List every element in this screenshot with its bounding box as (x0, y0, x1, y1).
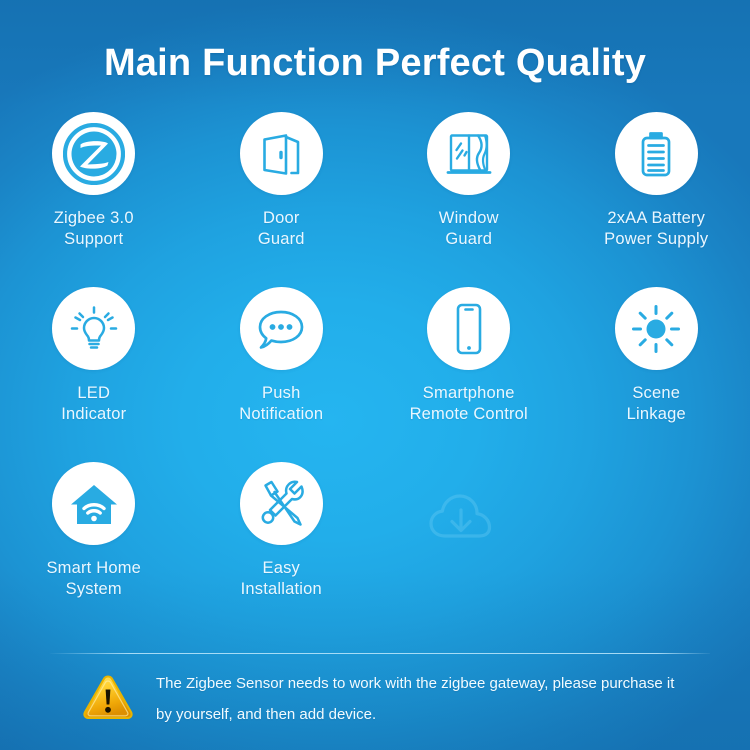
page-title: Main Function Perfect Quality (0, 0, 750, 85)
footer-notice: The Zigbee Sensor needs to work with the… (0, 668, 750, 730)
feature-label: Push Notification (239, 383, 323, 425)
feature-label: Smartphone Remote Control (410, 383, 528, 425)
feature-item-smartphone-remote[interactable]: Smartphone Remote Control (375, 287, 563, 462)
smartphone-icon (450, 301, 488, 357)
feature-label: Easy Installation (241, 558, 322, 600)
product-feature-page: Main Function Perfect Quality (0, 0, 750, 750)
feature-icon-disc (240, 112, 323, 195)
door-icon (255, 128, 307, 180)
feature-label: 2xAA Battery Power Supply (604, 208, 708, 250)
feature-item-push-notification[interactable]: Push Notification (188, 287, 376, 462)
window-icon (442, 128, 496, 180)
feature-item-smart-home-system[interactable]: Smart Home System (0, 462, 188, 637)
feature-label: LED Indicator (61, 383, 126, 425)
zigbee-logo-icon (63, 123, 125, 185)
feature-grid: Zigbee 3.0 Support Door Guard (0, 112, 750, 637)
feature-icon-disc (52, 287, 135, 370)
feature-icon-disc (52, 462, 135, 545)
feature-item-battery-power[interactable]: 2xAA Battery Power Supply (563, 112, 750, 287)
lightbulb-icon (67, 302, 121, 356)
warning-triangle-icon (82, 674, 134, 720)
footer-divider (50, 653, 710, 654)
feature-icon-disc (615, 287, 698, 370)
feature-label: Door Guard (258, 208, 305, 250)
feature-icon-disc (52, 112, 135, 195)
feature-label: Window Guard (439, 208, 499, 250)
feature-item-scene-linkage[interactable]: Scene Linkage (563, 287, 750, 462)
feature-icon-disc (427, 287, 510, 370)
feature-label: Scene Linkage (627, 383, 686, 425)
feature-label: Zigbee 3.0 Support (54, 208, 134, 250)
feature-item-door-guard[interactable]: Door Guard (188, 112, 376, 287)
feature-icon-disc (615, 112, 698, 195)
speech-bubble-icon (255, 305, 307, 353)
feature-icon-disc (240, 287, 323, 370)
feature-row: Smart Home System Eas (0, 462, 750, 637)
feature-row: Zigbee 3.0 Support Door Guard (0, 112, 750, 287)
sun-icon (630, 303, 682, 355)
feature-icon-disc (427, 112, 510, 195)
feature-item-window-guard[interactable]: Window Guard (375, 112, 563, 287)
feature-row: LED Indicator Push Notification (0, 287, 750, 462)
feature-item-led-indicator[interactable]: LED Indicator (0, 287, 188, 462)
feature-icon-disc (240, 462, 323, 545)
house-wifi-icon (67, 479, 121, 529)
feature-item-easy-installation[interactable]: Easy Installation (188, 462, 376, 637)
feature-item-zigbee-support[interactable]: Zigbee 3.0 Support (0, 112, 188, 287)
wrench-screwdriver-icon (254, 477, 308, 531)
battery-icon (634, 127, 678, 181)
feature-label: Smart Home System (46, 558, 141, 600)
footer-text: The Zigbee Sensor needs to work with the… (156, 668, 686, 730)
